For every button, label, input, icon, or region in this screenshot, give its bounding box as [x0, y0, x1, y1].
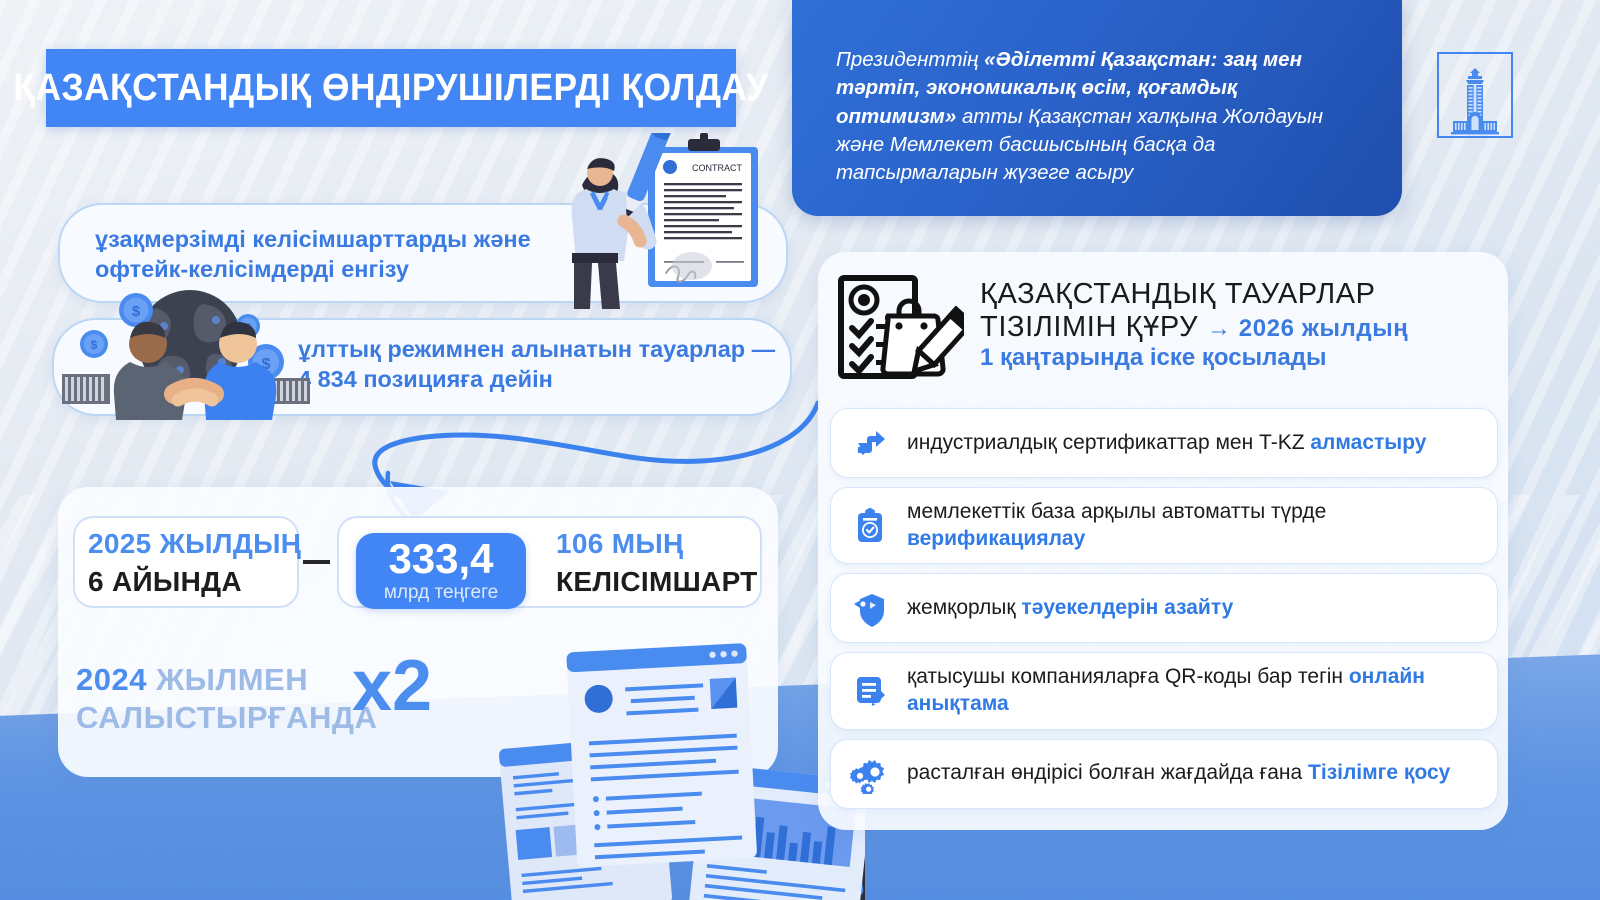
stat-dash-separator — [303, 560, 330, 564]
list-item-text-normal: индустриалдық сертификаттар мен T-KZ — [907, 431, 1310, 454]
list-item-text-bold: Тізілімге қосу — [1308, 761, 1450, 784]
registry-header: ҚАЗАҚСТАНДЫҚ ТАУАРЛАР ТІЗІЛІМІН ҚҰРУ → 2… — [836, 272, 1496, 397]
gears-icon — [847, 751, 893, 797]
stat-comparison-line2: САЛЫСТЫРҒАНДА — [76, 700, 377, 736]
checklist-clipboard-pencil-icon — [836, 272, 964, 382]
callout-pill-longterm-contracts-text: ұзақмерзімді келісімшарттарды және офтей… — [95, 225, 565, 285]
svg-text:$: $ — [91, 338, 98, 352]
clipboard-check-icon — [847, 503, 893, 549]
document-pen-icon — [847, 668, 893, 714]
stat-comparison-rest: ЖЫЛМЕН — [147, 662, 308, 697]
list-item-text-normal: қатысушы компанияларға QR-коды бар тегін — [907, 665, 1349, 688]
stat-amount-value: 333,4 — [388, 538, 493, 579]
registry-title-line1: ҚАЗАҚСТАНДЫҚ ТАУАРЛАР — [980, 278, 1408, 311]
registry-items-list: индустриалдық сертификаттар мен T-KZ алм… — [830, 408, 1498, 818]
handshake-globe-illustration: $ $ $ $ $ — [52, 282, 320, 420]
list-item[interactable]: мемлекеттік база арқылы автоматты түрде … — [830, 487, 1498, 564]
list-item-text-normal: мемлекеттік база арқылы автоматты түрде — [907, 500, 1326, 523]
callout-pill-national-regime-text: ұлттық режимнен алынатын тауарлар — 4 83… — [298, 335, 788, 395]
stat-comparison-year: 2024 — [76, 662, 147, 697]
registry-date-line1: 2026 жылдың — [1239, 315, 1409, 342]
list-item-text-bold: верификациялау — [907, 527, 1085, 550]
stat-amount-unit: млрд теңгеге — [384, 582, 498, 604]
list-item-text: расталған өндірісі болған жағдайда ғана … — [907, 760, 1450, 787]
list-item-text-bold: алмастыру — [1310, 431, 1426, 454]
stat-contracts-line1: 106 МЫҢ — [556, 528, 684, 560]
list-item[interactable]: жемқорлық тәуекелдерін азайту — [830, 573, 1498, 643]
registry-title-line2: ТІЗІЛІМІН ҚҰРУ — [980, 311, 1198, 343]
list-item-text: жемқорлық тәуекелдерін азайту — [907, 595, 1233, 622]
registry-date-line2: 1 қаңтарында іске қосылады — [980, 344, 1326, 371]
president-message-text: Президенттің «Әділетті Қазақстан: заң ме… — [836, 46, 1362, 187]
registry-title-block: ҚАЗАҚСТАНДЫҚ ТАУАРЛАР ТІЗІЛІМІН ҚҰРУ → 2… — [980, 272, 1408, 397]
page-title: ҚАЗАҚСТАНДЫҚ ӨНДІРУШІЛЕРДІ ҚОЛДАУ — [46, 49, 736, 127]
contract-signing-illustration: CONTRACT — [520, 133, 788, 311]
registry-arrow-icon: → — [1207, 315, 1232, 342]
stat-contracts-line2: КЕЛІСІМШАРТ — [556, 566, 758, 598]
list-item-text-normal: расталған өндірісі болған жағдайда ғана — [907, 761, 1308, 784]
svg-text:$: $ — [132, 303, 141, 320]
stat-amount-chip: 333,4 млрд теңгеге — [356, 533, 526, 609]
list-item[interactable]: қатысушы компанияларға QR-коды бар тегін… — [830, 652, 1498, 729]
list-item-text: қатысушы компанияларға QR-коды бар тегін… — [907, 664, 1481, 717]
president-message-panel: Президенттің «Әділетті Қазақстан: заң ме… — [792, 0, 1402, 216]
president-text-part1: Президенттің — [836, 48, 984, 71]
page-title-text: ҚАЗАҚСТАНДЫҚ ӨНДІРУШІЛЕРДІ ҚОЛДАУ — [13, 67, 768, 110]
registry-launch-date: → 2026 жылдың — [1207, 315, 1409, 342]
list-item-text-normal: жемқорлық — [907, 596, 1021, 619]
stat-multiplier: x2 — [352, 650, 432, 722]
list-item-text: индустриалдық сертификаттар мен T-KZ алм… — [907, 430, 1426, 457]
list-item[interactable]: индустриалдық сертификаттар мен T-KZ алм… — [830, 408, 1498, 478]
registry-title-line2-row: ТІЗІЛІМІН ҚҰРУ → 2026 жылдың — [980, 311, 1408, 344]
svg-text:CONTRACT: CONTRACT — [692, 163, 742, 173]
list-item[interactable]: расталған өндірісі болған жағдайда ғана … — [830, 739, 1498, 809]
exchange-arrows-icon — [847, 420, 893, 466]
stat-comparison-line1: 2024 ЖЫЛМЕН — [76, 662, 308, 698]
documents-windows-illustration — [465, 620, 865, 900]
government-house-emblem-icon — [1437, 52, 1513, 138]
list-item-text: мемлекеттік база арқылы автоматты түрде … — [907, 499, 1481, 552]
shield-money-icon — [847, 585, 893, 631]
stat-period-line1: 2025 ЖЫЛДЫҢ — [88, 528, 301, 560]
list-item-text-bold: тәуекелдерін азайту — [1021, 596, 1233, 619]
stat-period-line2: 6 АЙЫНДА — [88, 566, 242, 598]
